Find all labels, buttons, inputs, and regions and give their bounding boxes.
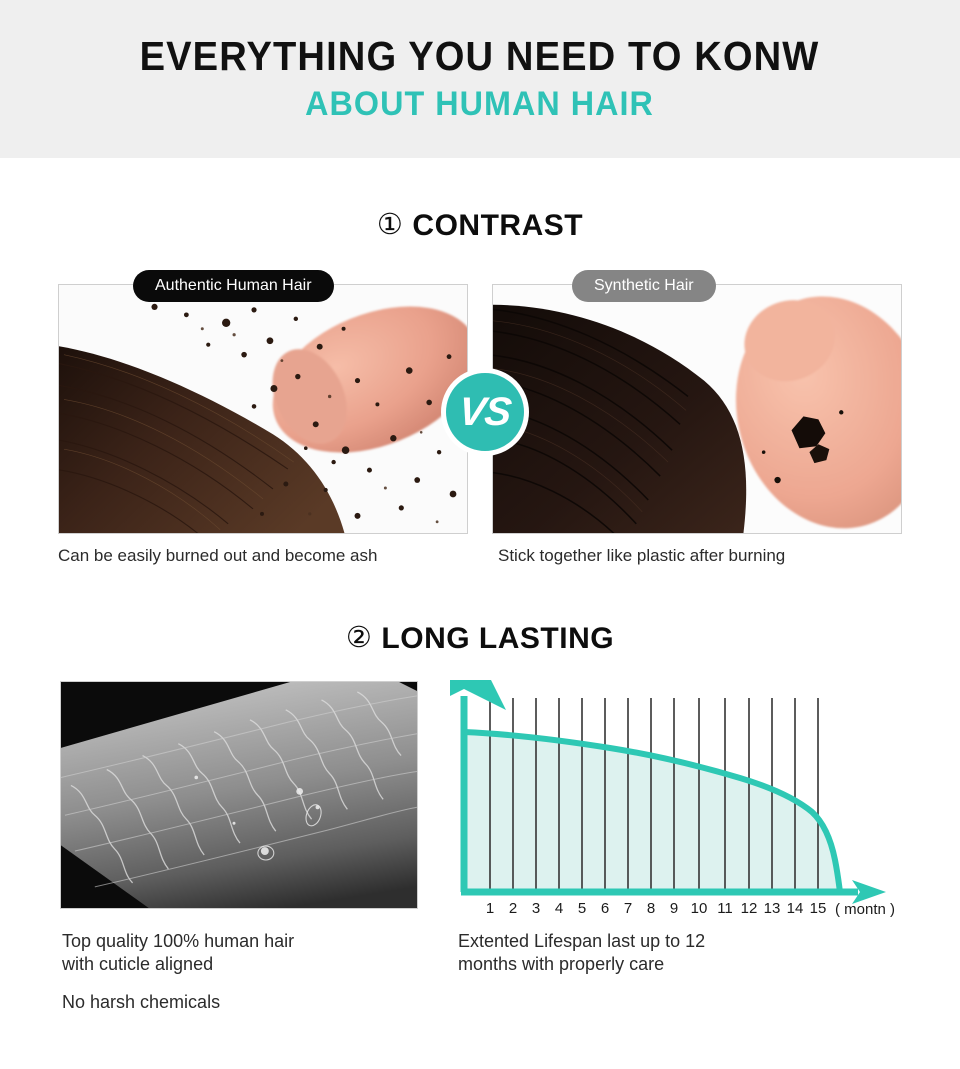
section-heading-contrast: ①CONTRAST [0,207,960,243]
label-pill-synthetic-hair: Synthetic Hair [572,270,716,302]
infographic-page: EVERYTHING YOU NEED TO KONW ABOUT HUMAN … [0,0,960,1069]
svg-text:7: 7 [624,900,632,917]
chart-x-axis-label: ( montn ) [835,901,895,918]
cuticle-scales-illustration [61,682,417,909]
lifespan-chart-svg: 1 2 3 4 5 6 7 8 9 10 11 12 13 14 15 ( mo… [450,680,920,930]
photo-synthetic-hair [492,284,902,534]
svg-text:1: 1 [486,900,494,917]
svg-text:15: 15 [810,900,827,917]
page-title-primary: EVERYTHING YOU NEED TO KONW [140,35,820,78]
svg-text:5: 5 [578,900,586,917]
melted-synthetic-hair-illustration [493,285,901,534]
svg-text:2: 2 [509,900,517,917]
caption-synthetic-hair: Stick together like plastic after burnin… [498,546,785,566]
text-no-harsh-chemicals: No harsh chemicals [62,991,442,1014]
label-pill-authentic-human-hair: Authentic Human Hair [133,270,334,302]
svg-text:9: 9 [670,900,678,917]
burned-hair-illustration [59,285,467,534]
lifespan-area-chart: 1 2 3 4 5 6 7 8 9 10 11 12 13 14 15 ( mo… [450,680,920,930]
photo-authentic-human-hair [58,284,468,534]
svg-text:13: 13 [764,900,781,917]
svg-text:6: 6 [601,900,609,917]
svg-text:12: 12 [741,900,758,917]
svg-text:3: 3 [532,900,540,917]
photo-hair-cuticle-microscope [60,681,418,909]
svg-text:10: 10 [691,900,708,917]
svg-text:11: 11 [717,900,733,917]
text-top-quality-hair: Top quality 100% human hair with cuticle… [62,930,442,975]
page-title-secondary: ABOUT HUMAN HAIR [306,87,655,123]
svg-text:14: 14 [787,900,804,917]
versus-badge-label: VS [457,390,513,435]
section-number-icon: ② [346,622,373,654]
section-heading-label: LONG LASTING [381,622,614,655]
versus-badge: VS [441,368,529,456]
svg-text:4: 4 [555,900,563,917]
section-heading-long-lasting: ②LONG LASTING [0,620,960,656]
text-extended-lifespan: Extented Lifespan last up to 12 months w… [458,930,858,975]
caption-authentic-hair: Can be easily burned out and become ash [58,546,377,566]
header-banner: EVERYTHING YOU NEED TO KONW ABOUT HUMAN … [0,0,960,158]
chart-x-tick-labels: 1 2 3 4 5 6 7 8 9 10 11 12 13 14 15 [486,900,827,917]
section-number-icon: ① [377,209,404,241]
section-heading-label: CONTRAST [412,209,583,242]
svg-text:8: 8 [647,900,655,917]
